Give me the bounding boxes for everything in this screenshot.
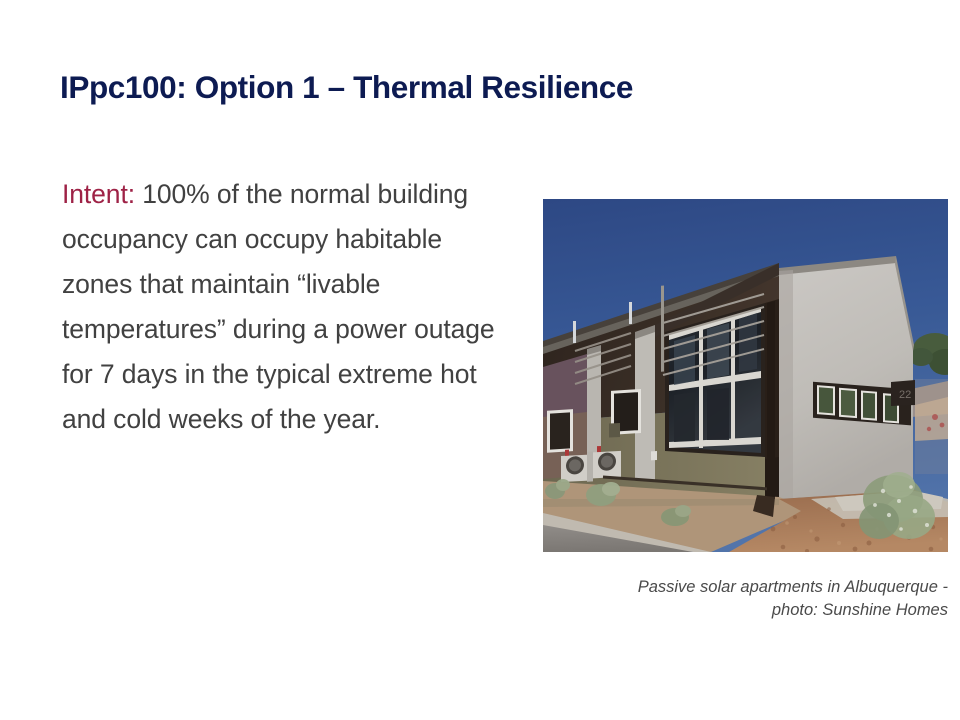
building-photo-illustration: 22 [543, 199, 948, 552]
intent-paragraph: Intent: 100% of the normal building occu… [62, 172, 502, 442]
photo-caption-line-1: Passive solar apartments in Albuquerque … [638, 578, 948, 596]
photo-caption-line-2: photo: Sunshine Homes [772, 601, 948, 619]
intent-text: 100% of the normal building occupancy ca… [62, 179, 495, 434]
page-title: IPpc100: Option 1 – Thermal Resilience [60, 68, 900, 106]
photo-caption: Passive solar apartments in Albuquerque … [548, 576, 948, 622]
building-photo: 22 [543, 199, 948, 552]
slide: IPpc100: Option 1 – Thermal Resilience I… [0, 0, 960, 720]
intent-label: Intent: [62, 179, 135, 209]
